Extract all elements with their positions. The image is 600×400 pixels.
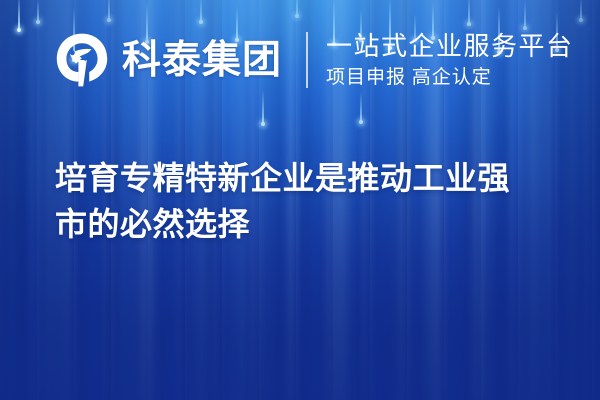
headline-line-1: 培育专精特新企业是推动工业强 — [55, 155, 565, 201]
light-streak-icon — [468, 0, 470, 24]
light-streak-icon — [18, 0, 20, 30]
light-streak-icon — [37, 0, 39, 22]
brand-name: 科泰集团 — [122, 41, 282, 80]
banner-header: 科泰集团 一站式企业服务平台 项目申报 高企认定 — [52, 28, 574, 92]
ketai-group-logo-icon — [52, 30, 112, 90]
light-streak-icon — [200, 0, 202, 22]
light-streak-icon — [108, 0, 110, 20]
light-streak-icon — [580, 0, 582, 20]
headline: 培育专精特新企业是推动工业强 市的必然选择 — [55, 155, 565, 247]
header-divider — [306, 32, 308, 88]
light-streak-icon — [524, 0, 526, 28]
tagline-sub: 项目申报 高企认定 — [326, 67, 574, 89]
tagline-main: 一站式企业服务平台 — [326, 32, 574, 62]
tagline-block: 一站式企业服务平台 项目申报 高企认定 — [326, 30, 574, 90]
light-streak-icon — [296, 0, 298, 16]
headline-line-2: 市的必然选择 — [55, 201, 565, 247]
light-streak-icon — [262, 90, 264, 124]
promo-banner: 科泰集团 一站式企业服务平台 项目申报 高企认定 培育专精特新企业是推动工业强 … — [0, 0, 600, 400]
light-streak-icon — [360, 92, 362, 122]
